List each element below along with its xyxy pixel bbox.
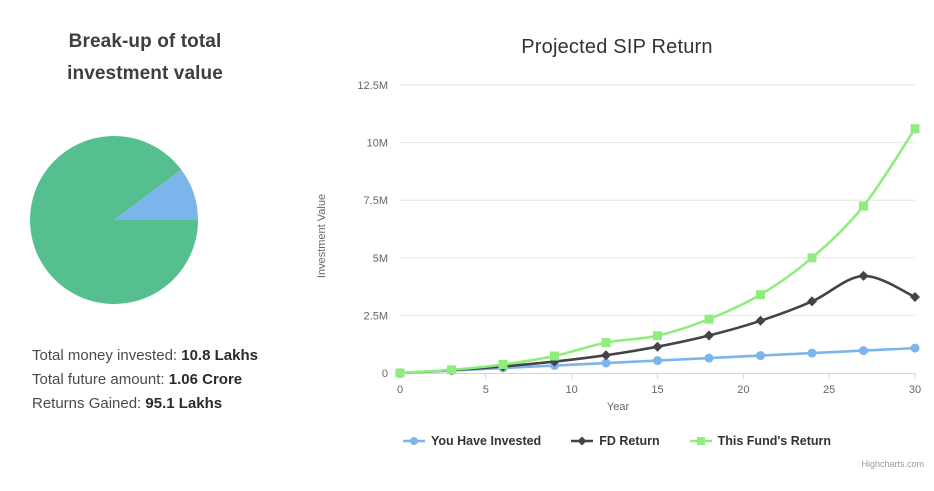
- data-point-marker[interactable]: [705, 315, 714, 324]
- y-tick-label: 10M: [367, 138, 388, 150]
- summary-total-future-label: Total future amount:: [32, 371, 169, 388]
- summary-total-invested-label: Total money invested:: [32, 347, 181, 364]
- axis-lines: [400, 373, 915, 379]
- legend-marker-circle-icon: [403, 435, 425, 447]
- y-axis-title: Investment Value: [316, 194, 328, 278]
- gridlines: [400, 85, 915, 315]
- y-tick-label: 0: [382, 368, 388, 380]
- investment-summary: Total money invested: 10.8 Lakhs Total f…: [32, 344, 294, 416]
- data-point-marker[interactable]: [447, 365, 456, 374]
- data-point-marker[interactable]: [602, 338, 611, 347]
- highcharts-credits[interactable]: Highcharts.com: [861, 459, 924, 469]
- y-tick-label: 7.5M: [364, 195, 388, 207]
- legend-item-this-fund-s-return[interactable]: This Fund's Return: [690, 434, 831, 448]
- data-point-marker[interactable]: [911, 124, 920, 133]
- data-series: [395, 124, 920, 378]
- x-tick-label: 10: [566, 384, 578, 396]
- data-point-marker[interactable]: [653, 342, 663, 352]
- data-point-marker[interactable]: [911, 344, 920, 353]
- data-point-marker[interactable]: [859, 346, 868, 355]
- legend-item-label: This Fund's Return: [718, 434, 831, 448]
- x-tick-label: 30: [909, 384, 921, 396]
- chart-legend: You Have InvestedFD ReturnThis Fund's Re…: [300, 434, 934, 448]
- data-point-marker[interactable]: [756, 351, 765, 360]
- pie-chart-title: Break-up of total investment value: [0, 26, 290, 90]
- legend-item-label: FD Return: [599, 434, 659, 448]
- x-axis-title: Year: [607, 401, 630, 413]
- x-tick-label: 5: [483, 384, 489, 396]
- line-chart-panel: Projected SIP Return 02.5M5M7.5M10M12.5M…: [300, 0, 934, 491]
- pie-chart: [30, 136, 198, 304]
- pie-chart-title-line-1: Break-up of total: [0, 26, 290, 58]
- pie-panel: Break-up of total investment value Total…: [0, 0, 300, 491]
- x-axis-ticks: 051015202530: [397, 384, 921, 396]
- data-point-marker[interactable]: [653, 356, 662, 365]
- data-point-marker[interactable]: [807, 296, 817, 306]
- data-point-marker[interactable]: [756, 290, 765, 299]
- legend-item-you-have-invested[interactable]: You Have Invested: [403, 434, 541, 448]
- data-point-marker[interactable]: [705, 354, 714, 363]
- data-point-marker[interactable]: [550, 352, 559, 361]
- legend-item-fd-return[interactable]: FD Return: [571, 434, 659, 448]
- data-point-marker[interactable]: [756, 316, 766, 326]
- summary-returns-gained: Returns Gained: 95.1 Lakhs: [32, 392, 294, 416]
- legend-marker-square-icon: [690, 435, 712, 447]
- x-tick-label: 0: [397, 384, 403, 396]
- data-point-marker[interactable]: [859, 271, 869, 281]
- summary-total-future-value: 1.06 Crore: [169, 371, 242, 388]
- y-tick-label: 2.5M: [364, 310, 388, 322]
- data-point-marker[interactable]: [704, 331, 714, 341]
- data-point-marker[interactable]: [859, 202, 868, 211]
- data-point-marker[interactable]: [653, 331, 662, 340]
- legend-marker-diamond-icon: [571, 435, 593, 447]
- data-point-marker[interactable]: [910, 292, 920, 302]
- summary-total-invested: Total money invested: 10.8 Lakhs: [32, 344, 294, 368]
- summary-total-invested-value: 10.8 Lakhs: [181, 347, 258, 364]
- data-point-marker[interactable]: [808, 253, 817, 262]
- data-point-marker[interactable]: [601, 350, 611, 360]
- pie-chart-title-line-2: investment value: [0, 58, 290, 90]
- data-point-marker[interactable]: [808, 349, 817, 358]
- x-tick-label: 20: [737, 384, 749, 396]
- legend-item-label: You Have Invested: [431, 434, 541, 448]
- y-tick-label: 5M: [373, 253, 388, 265]
- series-this-fund-s-return: [396, 124, 920, 377]
- x-tick-label: 15: [651, 384, 663, 396]
- x-tick-label: 25: [823, 384, 835, 396]
- data-point-marker[interactable]: [499, 360, 508, 369]
- y-axis-ticks: 02.5M5M7.5M10M12.5M: [357, 80, 388, 380]
- pie-slice-fund-return[interactable]: [30, 136, 198, 304]
- summary-total-future: Total future amount: 1.06 Crore: [32, 368, 294, 392]
- summary-returns-gained-label: Returns Gained:: [32, 395, 145, 412]
- data-point-marker[interactable]: [396, 369, 405, 378]
- sip-calculator-result: Break-up of total investment value Total…: [0, 0, 934, 491]
- y-tick-label: 12.5M: [357, 80, 388, 92]
- summary-returns-gained-value: 95.1 Lakhs: [145, 395, 222, 412]
